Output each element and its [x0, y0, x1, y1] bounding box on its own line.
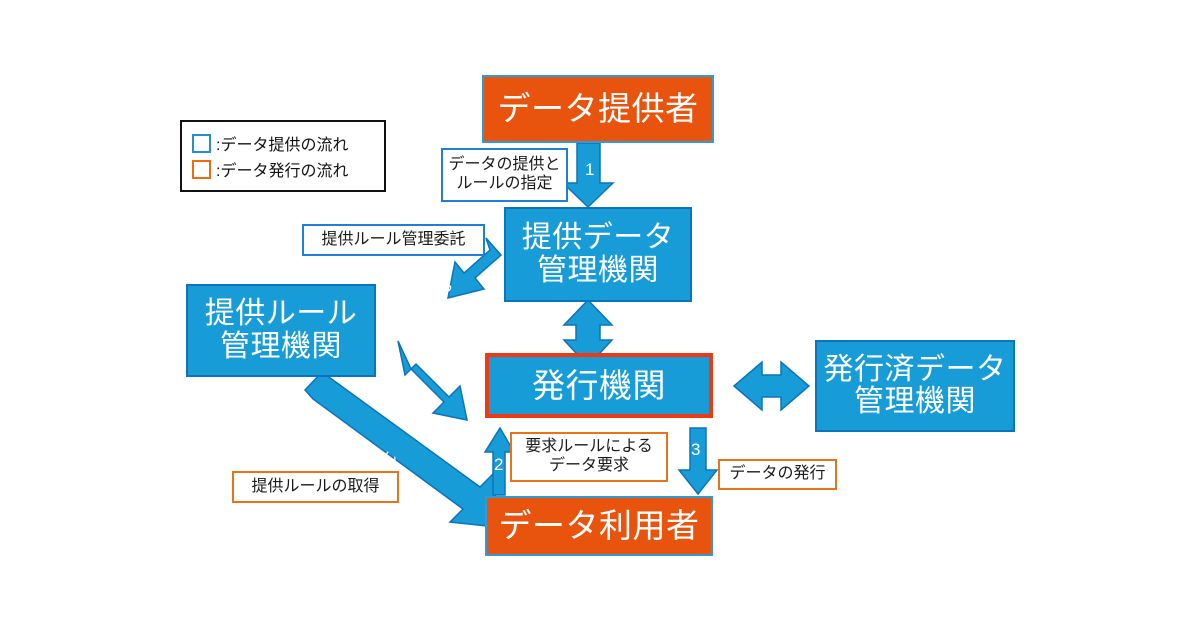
- arrow-num-3-down: 3: [691, 440, 700, 460]
- arrow-down-3: [679, 428, 717, 494]
- legend-swatch-blue: [192, 134, 211, 153]
- diagram-canvas: :データ提供の流れ :データ発行の流れ データ提供者 提供データ 管理機関 提供…: [0, 0, 1200, 630]
- node-issued-data-org[interactable]: 発行済データ 管理機関: [815, 340, 1015, 432]
- arrow-num-2-up: 2: [494, 455, 503, 475]
- legend-item-blue: :データ提供の流れ: [192, 130, 374, 156]
- arrow-num-1-top: 1: [585, 160, 594, 180]
- label-data-issuance: データの発行: [718, 459, 837, 490]
- node-data-user[interactable]: データ利用者: [485, 496, 713, 556]
- label-provide-data-and-rules: データの提供と ルールの指定: [441, 148, 568, 202]
- arrow-double-horizontal: [734, 362, 809, 410]
- node-issuing-org[interactable]: 発行機関: [485, 353, 713, 418]
- arrow-double-diagonal: [398, 341, 467, 420]
- label-rule-management-entrust: 提供ルール管理委託: [302, 224, 485, 256]
- legend-label-blue: :データ提供の流れ: [216, 131, 348, 155]
- node-provided-data-org[interactable]: 提供データ 管理機関: [504, 207, 692, 302]
- legend-swatch-orange: [192, 160, 211, 179]
- legend: :データ提供の流れ :データ発行の流れ: [180, 120, 386, 192]
- arrow-long-diagonal-1: [305, 372, 497, 527]
- label-acquire-provision-rule: 提供ルールの取得: [232, 471, 399, 503]
- label-data-request-by-rule: 要求ルールによる データ要求: [510, 432, 668, 482]
- legend-item-orange: :データ発行の流れ: [192, 156, 374, 182]
- node-provision-rule-org[interactable]: 提供ルール 管理機関: [186, 284, 376, 377]
- legend-label-orange: :データ発行の流れ: [216, 157, 348, 181]
- node-data-provider[interactable]: データ提供者: [482, 75, 714, 143]
